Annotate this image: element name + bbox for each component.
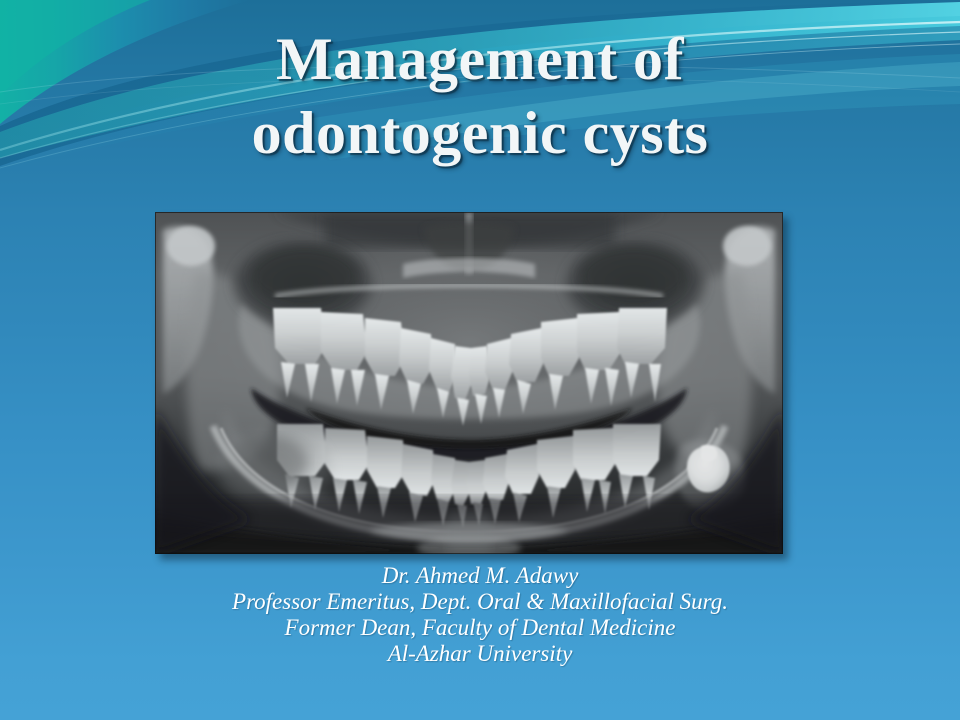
radiograph-svg [155,212,783,554]
subtitle-line-3: Former Dean, Faculty of Dental Medicine [0,615,960,641]
slide-title: Management of odontogenic cysts [0,22,960,170]
panoramic-dental-radiograph [155,212,783,554]
subtitle-line-2: Professor Emeritus, Dept. Oral & Maxillo… [0,589,960,615]
subtitle-line-1: Dr. Ahmed M. Adawy [0,563,960,589]
title-line-1: Management of [0,22,960,96]
slide-subtitle: Dr. Ahmed M. Adawy Professor Emeritus, D… [0,563,960,667]
subtitle-line-4: Al-Azhar University [0,641,960,667]
presentation-slide: Management of odontogenic cysts [0,0,960,720]
title-line-2: odontogenic cysts [0,96,960,170]
